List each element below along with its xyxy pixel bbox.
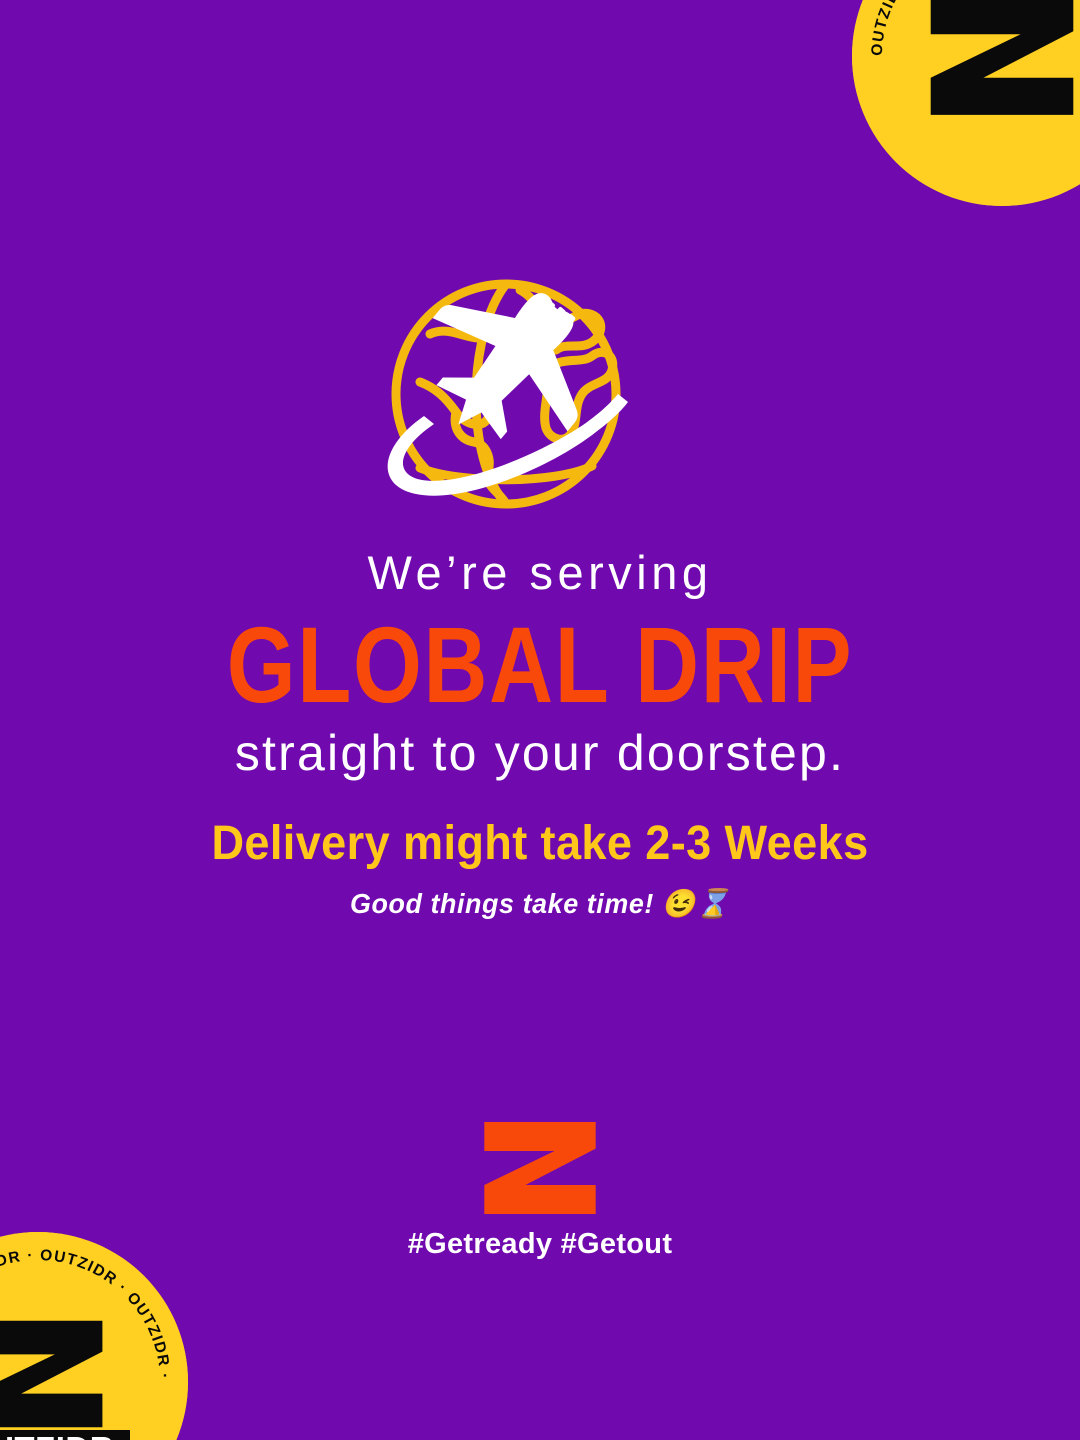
badge-bottom-left-graphic: OUTZIDR · OUTZIDR · OUTZIDR · OUTZIDR · … bbox=[0, 1232, 188, 1440]
badge-bottom-left: OUTZIDR · OUTZIDR · OUTZIDR · OUTZIDR · … bbox=[0, 1232, 188, 1440]
globe-plane-illustration bbox=[360, 272, 720, 517]
badge-wordmark-label: OUTZIDR bbox=[0, 1430, 114, 1440]
headline-block: We’re serving GLOBAL DRIP straight to yo… bbox=[0, 548, 1080, 780]
outzidr-z-logo-icon bbox=[478, 1122, 602, 1214]
badge-wordmark: OUTZIDR bbox=[0, 1430, 130, 1440]
subline-text: straight to your doorstep. bbox=[0, 727, 1080, 780]
delivery-notice: Delivery might take 2-3 Weeks Good thing… bbox=[0, 818, 1080, 920]
footer-block: #Getready #Getout bbox=[0, 1122, 1080, 1261]
promo-poster: OUTZIDR · OUTZIDR · OUTZIDR · OUTZIDR · … bbox=[0, 0, 1080, 1440]
delivery-note: Good things take time! 😉⌛ bbox=[22, 889, 1059, 920]
badge-top-right-graphic: OUTZIDR · OUTZIDR · OUTZIDR · OUTZIDR · bbox=[852, 0, 1080, 206]
kicker-text: We’re serving bbox=[0, 548, 1080, 597]
page-title: GLOBAL DRIP bbox=[97, 611, 983, 719]
hashtags-text: #Getready #Getout bbox=[0, 1228, 1080, 1261]
globe-plane-graphic bbox=[360, 272, 720, 517]
delivery-headline: Delivery might take 2-3 Weeks bbox=[32, 818, 1047, 871]
badge-top-right: OUTZIDR · OUTZIDR · OUTZIDR · OUTZIDR · bbox=[852, 0, 1080, 206]
